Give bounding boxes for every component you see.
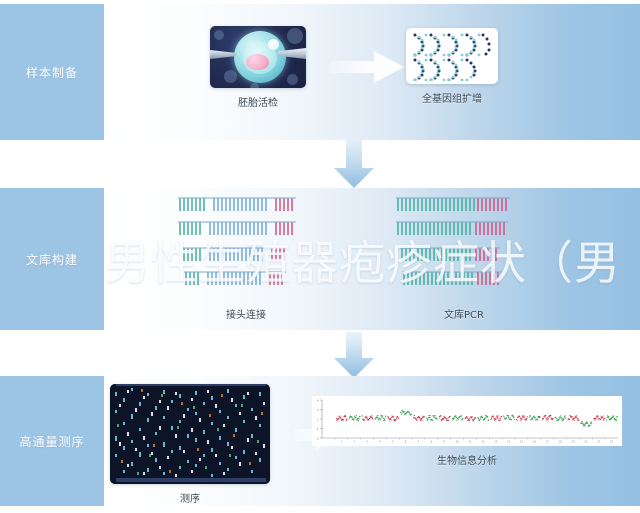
stage-high-throughput-sequencing: 高通量测序 xyxy=(0,376,640,506)
node-sequencing[interactable]: 测序 xyxy=(110,384,270,505)
pipette-left-icon xyxy=(210,50,236,59)
arrow-down-icon-1 xyxy=(330,140,378,192)
arrow-right-icon xyxy=(330,50,404,88)
caption-embryo-biopsy: 胚胎活检 xyxy=(238,94,278,109)
svg-text:13: 13 xyxy=(494,441,498,444)
stage-sample-prep: 样本制备 胚胎活检 xyxy=(0,4,640,140)
svg-text:14: 14 xyxy=(507,441,511,444)
caption-whole-genome-amplification: 全基因组扩增 xyxy=(422,90,482,105)
svg-text:12: 12 xyxy=(481,441,485,444)
caption-bioinformatics-analysis: 生物信息分析 xyxy=(437,452,497,467)
svg-text:11: 11 xyxy=(468,441,472,444)
arrow-down-icon-2 xyxy=(330,332,378,382)
caption-adapter-ligation: 接头连接 xyxy=(226,306,266,321)
cnv-chart-icon[interactable]: 01234 1234567891011121314151617181920212… xyxy=(312,396,622,446)
caption-sequencing: 测序 xyxy=(180,490,200,505)
stage-body-high-throughput-sequencing: 测序 xyxy=(104,376,640,506)
stage-body-sample-prep: 胚胎活检 xyxy=(104,4,640,140)
node-adapter-ligation[interactable]: 接头连接 xyxy=(176,192,316,321)
svg-text:22: 22 xyxy=(610,441,614,444)
svg-text:17: 17 xyxy=(546,441,550,444)
svg-text:16: 16 xyxy=(533,441,537,444)
node-embryo-biopsy[interactable]: 胚胎活检 xyxy=(210,26,306,109)
dna-helix-icon xyxy=(406,28,498,84)
svg-text:19: 19 xyxy=(571,441,575,444)
dna-fragments-icon xyxy=(176,192,316,300)
svg-text:20: 20 xyxy=(584,441,588,444)
stage-label-library-construction: 文库构建 xyxy=(0,188,104,330)
svg-text:10: 10 xyxy=(456,441,460,444)
svg-text:21: 21 xyxy=(597,441,601,444)
stage-library-construction: 文库构建 xyxy=(0,188,640,330)
stage-label-sample-prep: 样本制备 xyxy=(0,4,104,140)
stage-body-library-construction: 接头连接 xyxy=(104,188,640,330)
embryo-biopsy-icon xyxy=(210,26,306,88)
node-bioinformatics-analysis[interactable]: 01234 1234567891011121314151617181920212… xyxy=(312,396,622,467)
caption-library-pcr: 文库PCR xyxy=(444,306,484,321)
svg-text:15: 15 xyxy=(520,441,524,444)
node-whole-genome-amplification[interactable]: 全基因组扩增 xyxy=(406,28,498,105)
node-library-pcr[interactable]: 文库PCR xyxy=(394,192,534,321)
flowcell-image-icon xyxy=(110,384,270,484)
svg-text:18: 18 xyxy=(559,441,563,444)
dna-fragments-icon-2 xyxy=(394,192,534,300)
stage-label-high-throughput-sequencing: 高通量测序 xyxy=(0,376,104,506)
